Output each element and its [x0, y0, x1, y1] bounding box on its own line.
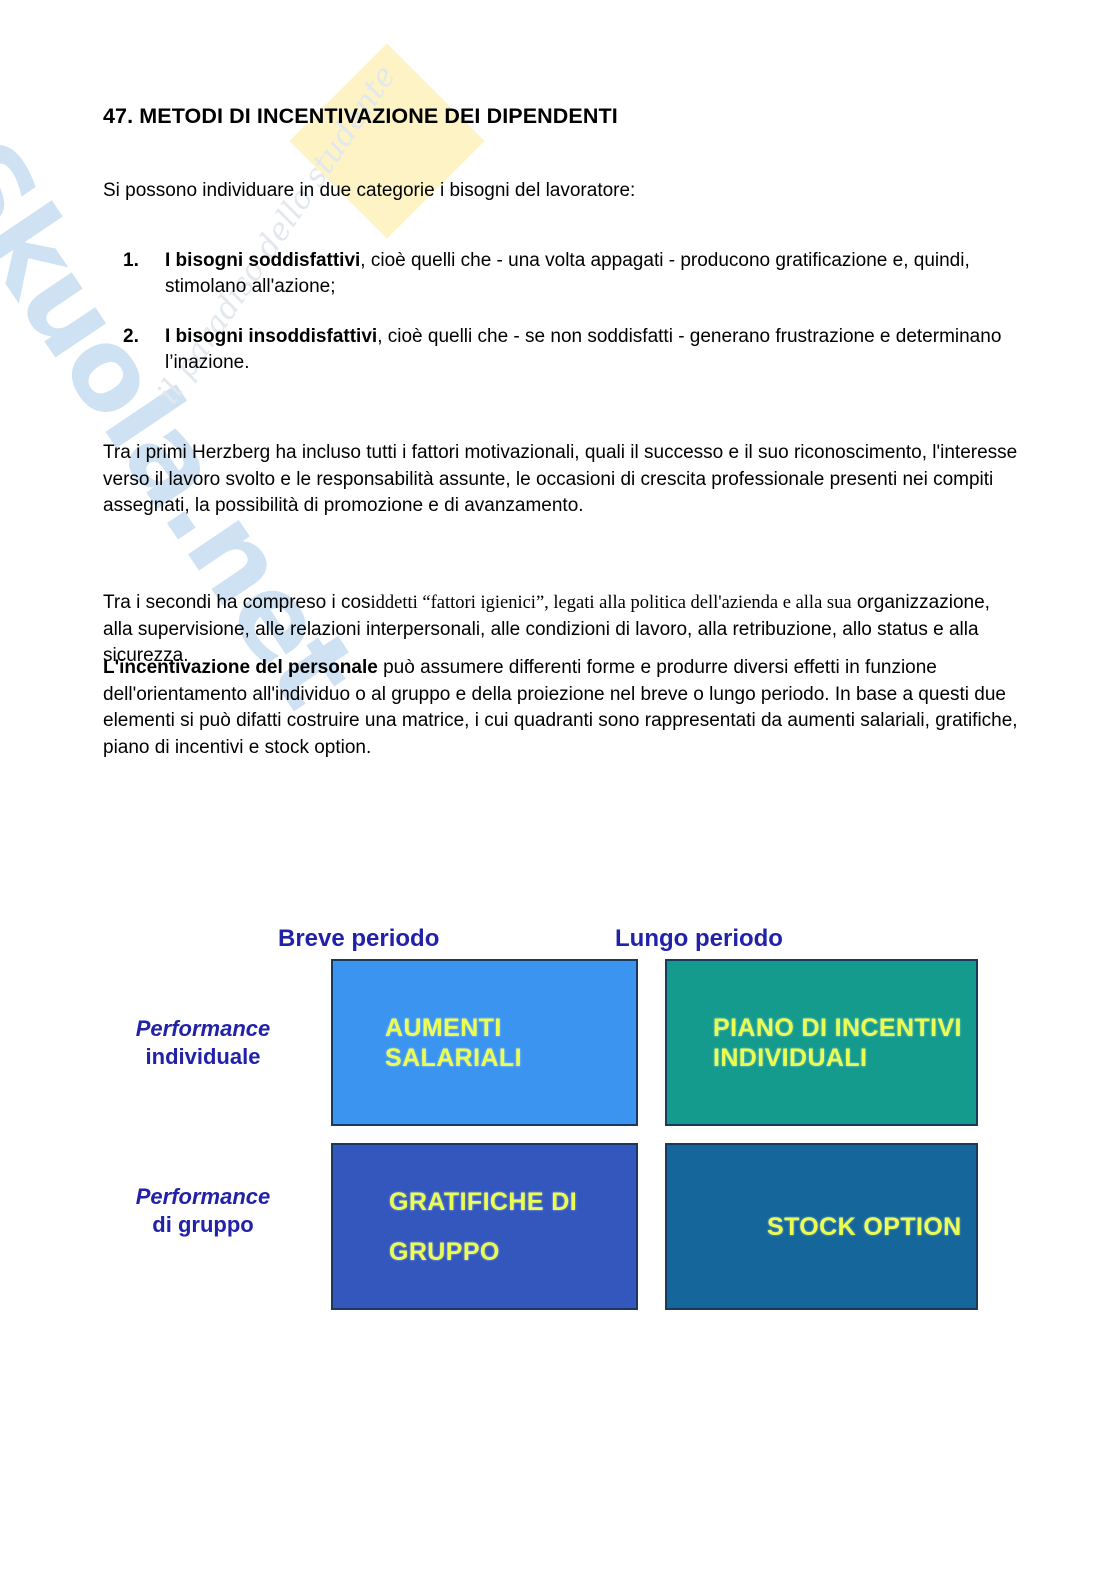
- row-header-line-1: Performance: [103, 1183, 303, 1211]
- matrix-cell-stock-option: STOCK OPTION: [665, 1143, 978, 1310]
- matrix-cell-gratifiche-gruppo: GRATIFICHE DI GRUPPO: [331, 1143, 638, 1310]
- paragraph-bold-lead: L'incentivazione del personale: [103, 657, 378, 678]
- matrix-cell-label: PIANO DI INCENTIVI INDIVIDUALI: [713, 1013, 976, 1073]
- paragraph-lead-text: Tra i secondi ha compreso i cos: [103, 592, 371, 613]
- matrix-row-header-gruppo: Performance di gruppo: [103, 1183, 303, 1239]
- matrix-row-header-individuale: Performance individuale: [103, 1015, 303, 1071]
- list-item-number: 1.: [123, 248, 139, 274]
- matrix-cell-label: GRATIFICHE DI GRUPPO: [389, 1177, 636, 1277]
- intro-paragraph: Si possono individuare in due categorie …: [103, 180, 635, 202]
- matrix-column-header-breve: Breve periodo: [278, 925, 439, 953]
- watermark-layer: Skuola.net il paradiso dello studente: [0, 0, 1116, 1579]
- needs-list: 1.I bisogni soddisfattivi, cioè quelli c…: [103, 248, 1003, 400]
- row-header-line-1: Performance: [103, 1015, 303, 1043]
- list-item-bold-lead: I bisogni soddisfattivi: [165, 250, 360, 271]
- paragraph-herzberg: Tra i primi Herzberg ha incluso tutti i …: [103, 440, 1018, 520]
- paragraph-incentivazione: L'incentivazione del personale può assum…: [103, 655, 1018, 761]
- matrix-cell-label: STOCK OPTION: [767, 1212, 962, 1242]
- page-title: 47. METODI DI INCENTIVAZIONE DEI DIPENDE…: [103, 104, 618, 129]
- matrix-column-header-lungo: Lungo periodo: [615, 925, 783, 953]
- row-header-line-2: di gruppo: [103, 1211, 303, 1239]
- list-item-bold-lead: I bisogni insoddisfattivi: [165, 326, 377, 347]
- paragraph-serif-run: iddetti “fattori igienici”, legati alla …: [371, 593, 852, 613]
- matrix-cell-piano-incentivi: PIANO DI INCENTIVI INDIVIDUALI: [665, 959, 978, 1126]
- watermark-yellow-diamond: [289, 43, 484, 238]
- list-item-number: 2.: [123, 324, 139, 350]
- document-page: Skuola.net il paradiso dello studente 47…: [0, 0, 1116, 1579]
- matrix-cell-label: AUMENTI SALARIALI: [385, 1013, 636, 1073]
- matrix-cell-aumenti-salariali: AUMENTI SALARIALI: [331, 959, 638, 1126]
- incentive-matrix: Breve periodo Lungo periodo Performance …: [103, 915, 1003, 1310]
- row-header-line-2: individuale: [103, 1043, 303, 1071]
- list-item: 2.I bisogni insoddisfattivi, cioè quelli…: [103, 324, 1003, 376]
- list-item: 1.I bisogni soddisfattivi, cioè quelli c…: [103, 248, 1003, 300]
